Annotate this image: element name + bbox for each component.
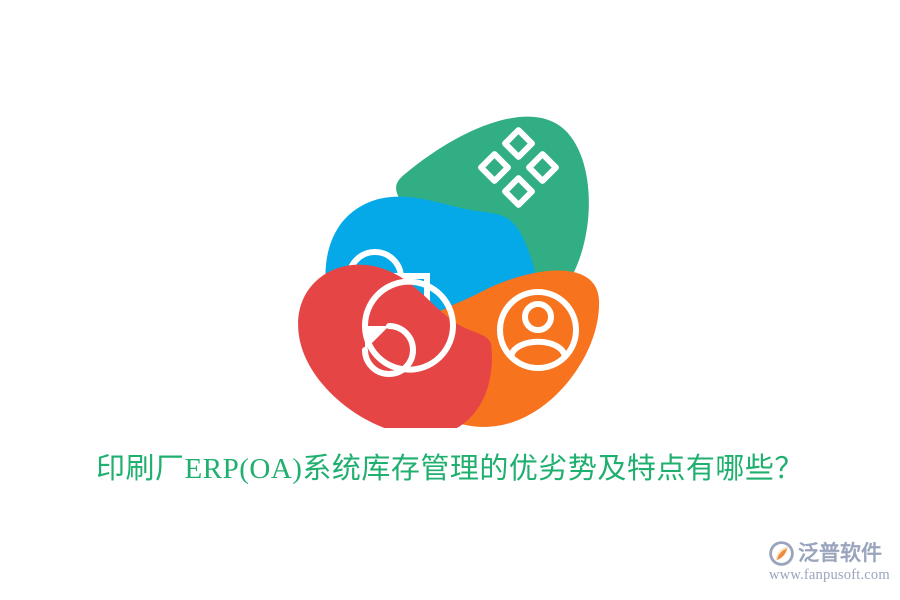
brand-logo	[285, 88, 605, 428]
page-root: 印刷厂ERP(OA)系统库存管理的优劣势及特点有哪些？ 泛普软件 www.fan…	[0, 0, 900, 600]
fanpu-logo-icon	[768, 540, 795, 567]
page-title: 印刷厂ERP(OA)系统库存管理的优劣势及特点有哪些？	[0, 450, 900, 488]
watermark-url: www.fanpusoft.com	[769, 567, 894, 584]
watermark: 泛普软件 www.fanpusoft.com	[768, 538, 894, 592]
watermark-brand-row: 泛普软件	[768, 538, 894, 568]
watermark-brand-text: 泛普软件	[798, 540, 882, 567]
